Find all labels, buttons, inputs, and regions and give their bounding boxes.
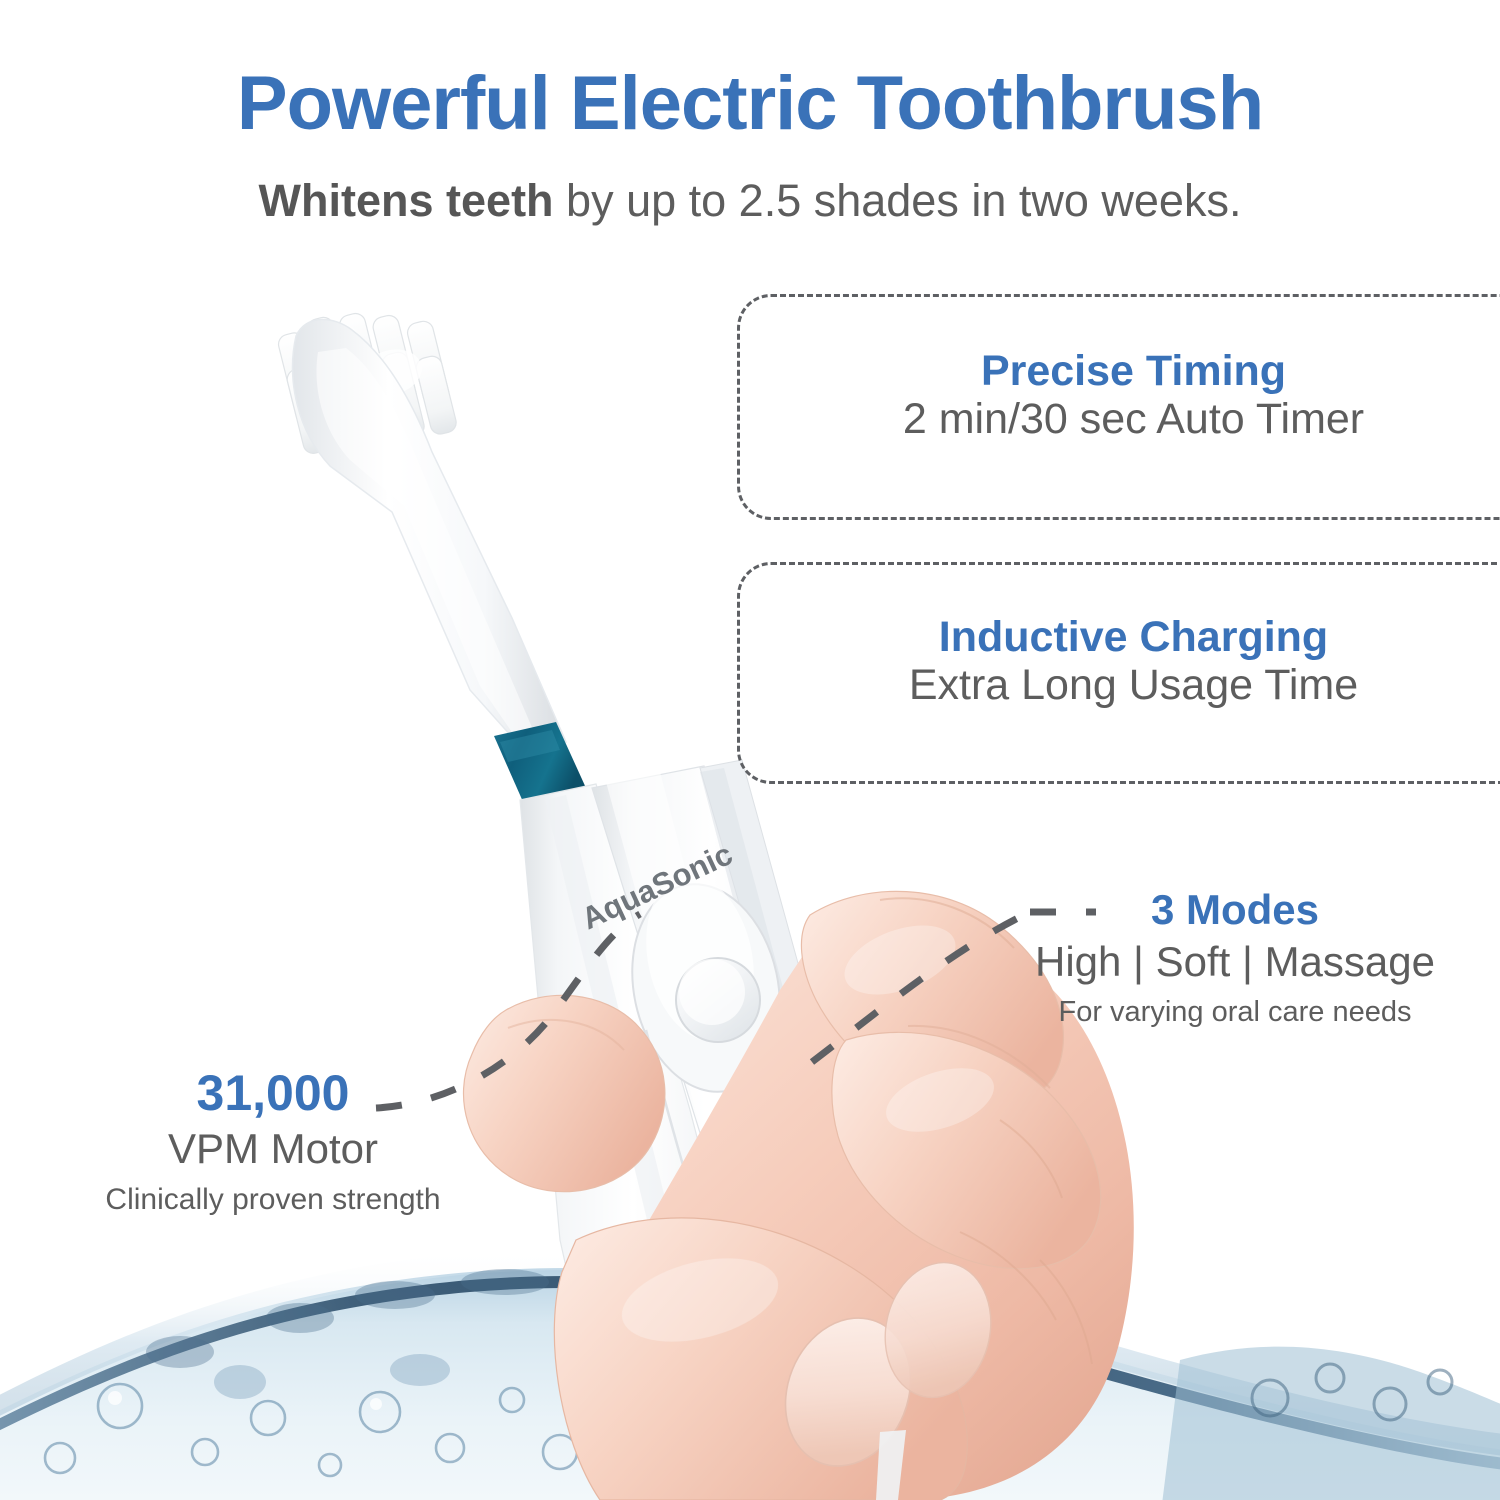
callout-timing-title: Precise Timing [740,347,1500,395]
motor-note: Clinically proven strength [58,1182,488,1218]
callout-motor: 31,000 VPM Motor Clinically proven stren… [58,1068,488,1218]
modes-list: High | Soft | Massage [1000,936,1470,987]
callout-charging-title: Inductive Charging [740,613,1500,661]
motor-label: VPM Motor [58,1124,488,1174]
page-subtitle: Whitens teeth by up to 2.5 shades in two… [0,178,1500,223]
subtitle-bold: Whitens teeth [259,175,554,226]
modes-title: 3 Modes [1000,888,1470,932]
callout-precise-timing: Precise Timing 2 min/30 sec Auto Timer [737,294,1500,520]
infographic-canvas: H S M AquaSonic AUTO-TIMER [0,0,1500,1500]
subtitle-rest: by up to 2.5 shades in two weeks. [554,175,1242,226]
callout-timing-subtitle: 2 min/30 sec Auto Timer [740,395,1500,445]
callout-charging-subtitle: Extra Long Usage Time [740,661,1500,711]
callout-three-modes: 3 Modes High | Soft | Massage For varyin… [1000,888,1470,1030]
callout-inductive-charging: Inductive Charging Extra Long Usage Time [737,562,1500,784]
motor-value: 31,000 [58,1068,488,1118]
page-title: Powerful Electric Toothbrush [0,66,1500,142]
thumb [463,995,664,1191]
modes-note: For varying oral care needs [1000,995,1470,1030]
